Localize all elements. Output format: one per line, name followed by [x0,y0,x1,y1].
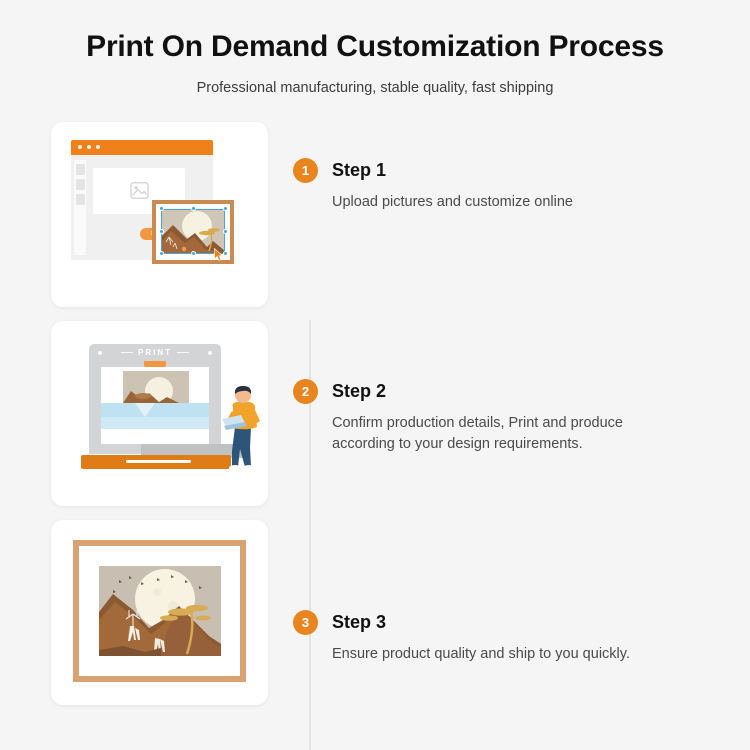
step-row-2: PRINT [0,321,750,506]
step-2-description: Confirm production details, Print and pr… [332,413,732,455]
step-2-illustration-card: PRINT [51,321,268,506]
printed-artwork [123,371,189,403]
resize-handle[interactable] [159,206,164,211]
printer-base-slot [126,460,191,463]
picture-frame [73,540,246,682]
step-2-description-line-2: according to your design requirements. [332,434,732,455]
resize-handle[interactable] [223,251,228,256]
step-3-badge: 3 [293,610,318,635]
page-title: Print On Demand Customization Process [0,28,750,66]
step-3-heading: 3 Step 3 [293,610,750,635]
window-dot-icon [78,145,82,149]
printer-label: PRINT [138,348,172,357]
step-2-title: Step 2 [332,381,386,402]
sidebar-block [76,179,85,190]
framed-artwork [99,566,221,656]
step-3-illustration-card [51,520,268,705]
sidebar-block [76,164,85,175]
dash-icon [177,352,189,354]
window-dot-icon [96,145,100,149]
sidebar-block [76,194,85,205]
dash-icon [121,352,133,354]
resize-handle[interactable] [159,251,164,256]
printer-knob-icon [208,351,212,355]
step-1-heading: 1 Step 1 [293,158,750,183]
step-row-3: 3 Step 3 Ensure product quality and ship… [0,520,750,705]
poster-root: Print On Demand Customization Process Pr… [0,0,750,750]
step-3-description: Ensure product quality and ship to you q… [332,644,732,665]
step-1-badge: 1 [293,158,318,183]
step-2-badge: 2 [293,379,318,404]
printed-paper [101,367,209,444]
image-placeholder-icon [130,182,149,199]
step-2-text: 2 Step 2 Confirm production details, Pri… [293,321,750,455]
browser-sidebar [74,160,86,255]
step-2-heading: 2 Step 2 [293,379,750,404]
frame-mat [79,546,240,676]
printer-base [81,455,231,469]
step-3-title: Step 3 [332,612,386,633]
header: Print On Demand Customization Process Pr… [0,0,750,96]
printer-top-bar: PRINT [89,344,221,362]
resize-handle[interactable] [191,251,196,256]
step-row-1: SAVE [0,122,750,307]
resize-handle[interactable] [223,206,228,211]
photo-frame-preview[interactable] [152,200,234,264]
printer-machine: PRINT [89,344,221,454]
page-subtitle: Professional manufacturing, stable quali… [0,80,750,96]
step-2-description-line-1: Confirm production details, Print and pr… [332,413,732,434]
browser-title-bar [71,140,213,155]
step-1-description: Upload pictures and customize online [332,192,732,213]
steps-section: SAVE [0,122,750,705]
person-with-laptop-illustration [219,383,265,471]
step-1-title: Step 1 [332,160,386,181]
step-1-illustration-card: SAVE [51,122,268,307]
resize-handle[interactable] [159,229,164,234]
step-1-text: 1 Step 1 Upload pictures and customize o… [293,122,750,213]
step-3-text: 3 Step 3 Ensure product quality and ship… [293,520,750,665]
mouse-cursor-icon [214,248,223,261]
printer-knob-icon [98,351,102,355]
resize-handle[interactable] [191,206,196,211]
water-reflection [101,403,209,444]
window-dot-icon [87,145,91,149]
resize-handle[interactable] [223,229,228,234]
